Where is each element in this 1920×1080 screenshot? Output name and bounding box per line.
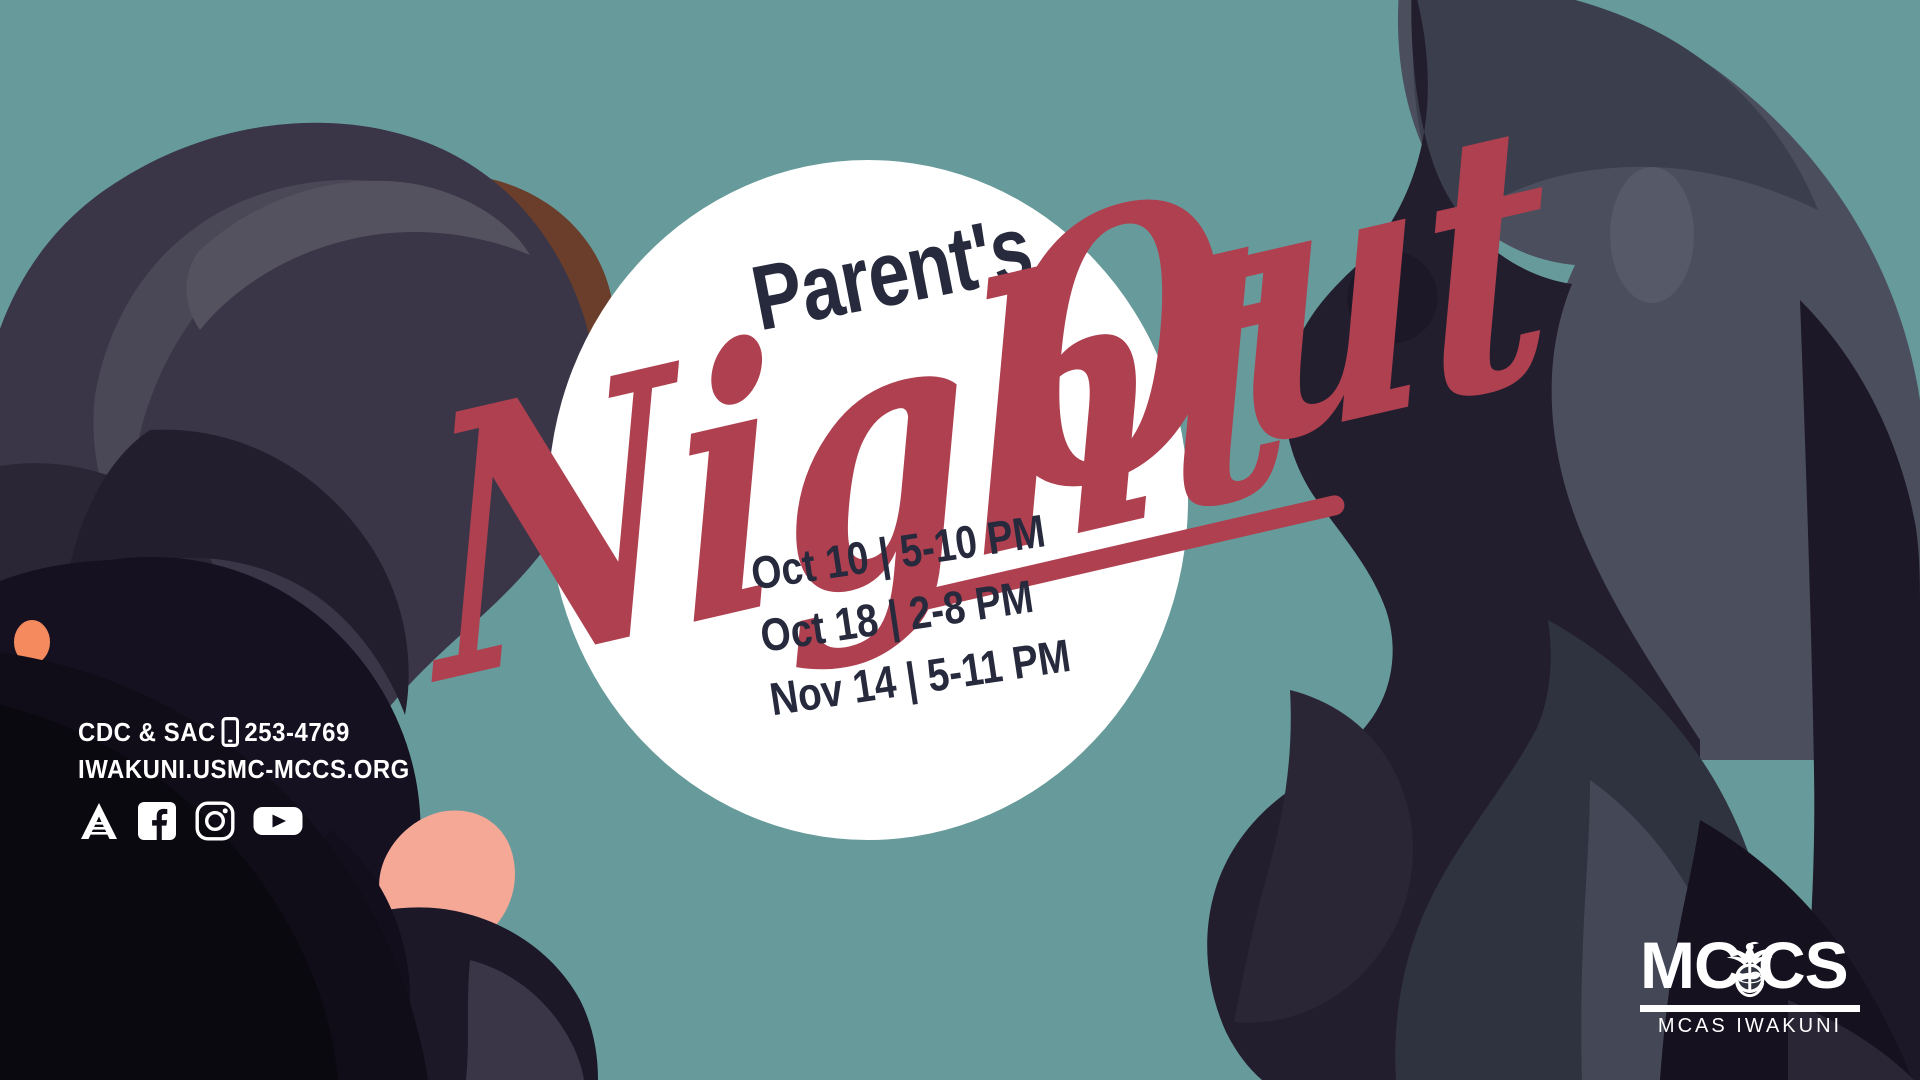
youtube-icon[interactable] — [252, 800, 304, 842]
svg-text:MC: MC — [1640, 930, 1741, 1002]
contact-phone-number[interactable]: 253-4769 — [244, 714, 350, 751]
mccs-subtitle: MCAS IWAKUNI — [1640, 1015, 1860, 1038]
mccs-logo[interactable]: MC CS MCAS IWAK — [1640, 930, 1860, 1038]
social-links-row — [78, 800, 439, 842]
contact-block: CDC & SAC 253-4769 IWAKUNI.USMC-MCCS.ORG — [78, 714, 439, 842]
contact-website-line[interactable]: IWAKUNI.USMC-MCCS.ORG — [78, 751, 410, 788]
mccs-wordmark: MC CS — [1640, 930, 1860, 1002]
mobile-phone-icon — [221, 717, 238, 747]
mccs-pyramid-icon[interactable] — [78, 800, 120, 842]
contact-phone-line: CDC & SAC 253-4769 — [78, 714, 410, 751]
facebook-icon[interactable] — [136, 800, 178, 842]
instagram-icon[interactable] — [194, 800, 236, 842]
contact-website[interactable]: IWAKUNI.USMC-MCCS.ORG — [78, 751, 410, 788]
poster-canvas: Parent's Night Out Oct 10 | 5-10 PM Oct … — [0, 0, 1920, 1080]
svg-text:CS: CS — [1758, 930, 1848, 1002]
mccs-divider-rule — [1640, 1005, 1860, 1012]
contact-phone-label: CDC & SAC — [78, 714, 216, 751]
